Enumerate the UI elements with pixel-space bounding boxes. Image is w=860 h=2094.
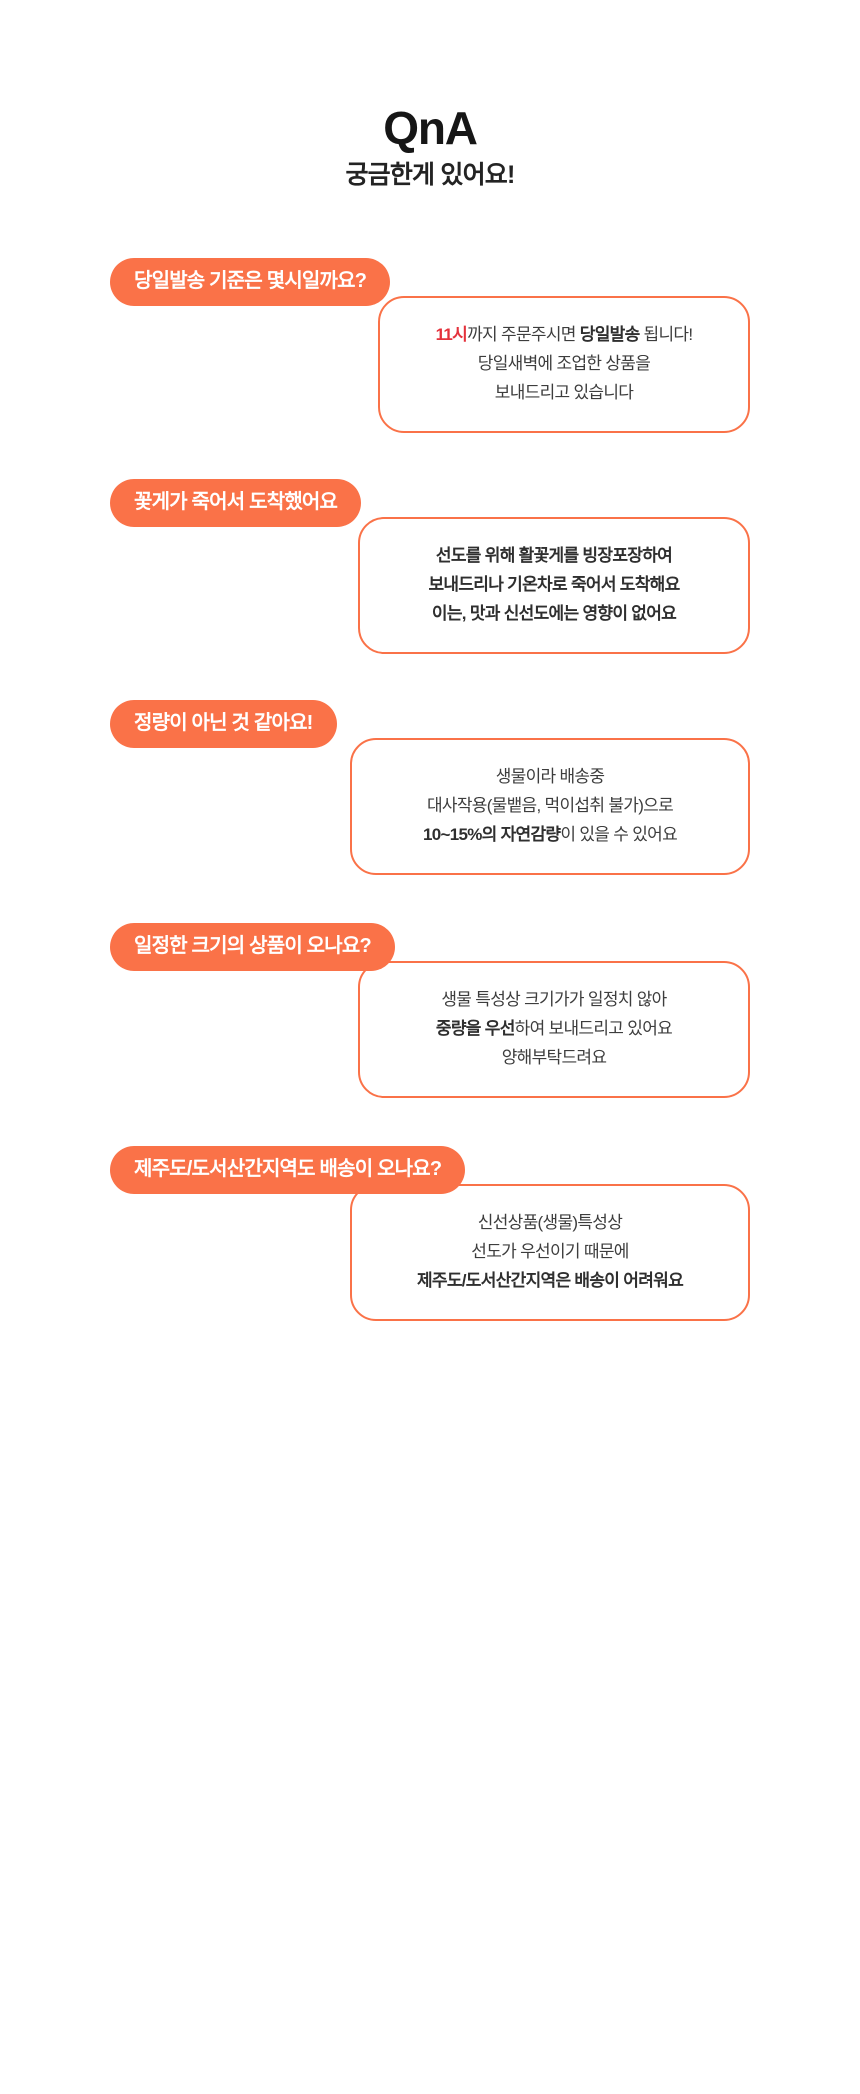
qa-answer-bubble: 11시까지 주문주시면 당일발송 됩니다!당일새벽에 조업한 상품을보내드리고 …: [378, 296, 750, 433]
qa-list: 당일발송 기준은 몇시일까요?11시까지 주문주시면 당일발송 됩니다!당일새벽…: [110, 258, 750, 1321]
qa-answer-line: 당일새벽에 조업한 상품을: [404, 349, 724, 378]
qa-answer-line: 대사작용(물뱉음, 먹이섭취 불가)으로: [376, 791, 724, 820]
qa-answer-text: 신선상품(생물)특성상: [478, 1213, 622, 1232]
qa-answer-line: 11시까지 주문주시면 당일발송 됩니다!: [404, 320, 724, 349]
qa-item: 당일발송 기준은 몇시일까요?11시까지 주문주시면 당일발송 됩니다!당일새벽…: [110, 258, 750, 433]
qa-answer-text: 제주도/도서산간지역은 배송이 어려워요: [417, 1271, 683, 1290]
qa-question-pill[interactable]: 정량이 아닌 것 같아요!: [110, 700, 337, 748]
qa-item: 꽃게가 죽어서 도착했어요선도를 위해 활꽃게를 빙장포장하여보내드리나 기온차…: [110, 479, 750, 654]
qa-answer-text: 생물이라 배송중: [496, 767, 605, 786]
qa-answer-text: 11시: [436, 325, 468, 344]
qa-answer-text: 이 있을 수 있어요: [560, 825, 677, 844]
qa-answer-text: 선도가 우선이기 때문에: [471, 1242, 628, 1261]
qa-answer-text: 까지 주문주시면: [467, 325, 580, 344]
qa-answer-line: 제주도/도서산간지역은 배송이 어려워요: [376, 1266, 724, 1295]
qna-page: QnA 궁금한게 있어요! 당일발송 기준은 몇시일까요?11시까지 주문주시면…: [0, 0, 860, 2094]
qa-answer-text: 보내드리나 기온차로 죽어서 도착해요: [428, 575, 679, 594]
qa-answer-line: 생물이라 배송중: [376, 762, 724, 791]
qa-question-pill[interactable]: 당일발송 기준은 몇시일까요?: [110, 258, 390, 306]
qa-answer-text: 이는, 맛과 신선도에는 영향이 없어요: [432, 604, 676, 623]
qa-answer-line: 선도를 위해 활꽃게를 빙장포장하여: [384, 541, 724, 570]
content-column: QnA 궁금한게 있어요! 당일발송 기준은 몇시일까요?11시까지 주문주시면…: [110, 0, 750, 2094]
qa-answer-line: 10~15%의 자연감량이 있을 수 있어요: [376, 820, 724, 849]
qa-answer-bubble: 생물이라 배송중대사작용(물뱉음, 먹이섭취 불가)으로10~15%의 자연감량…: [350, 738, 750, 875]
qa-answer-text: 선도를 위해 활꽃게를 빙장포장하여: [436, 546, 672, 565]
qa-item: 정량이 아닌 것 같아요!생물이라 배송중대사작용(물뱉음, 먹이섭취 불가)으…: [110, 700, 750, 875]
qa-answer-text: 당일새벽에 조업한 상품을: [478, 354, 650, 373]
qa-answer-text: 보내드리고 있습니다: [495, 383, 633, 402]
qa-answer-line: 신선상품(생물)특성상: [376, 1208, 724, 1237]
qa-answer-line: 선도가 우선이기 때문에: [376, 1237, 724, 1266]
qa-answer-text: 양해부탁드려요: [502, 1048, 607, 1067]
qa-question-pill[interactable]: 꽃게가 죽어서 도착했어요: [110, 479, 361, 527]
qa-answer-bubble: 생물 특성상 크기가가 일정치 않아중량을 우선하여 보내드리고 있어요양해부탁…: [358, 961, 750, 1098]
qa-answer-text: 10~15%의 자연감량: [423, 825, 560, 844]
qa-answer-text: 됩니다!: [640, 325, 693, 344]
qa-item: 제주도/도서산간지역도 배송이 오나요?신선상품(생물)특성상선도가 우선이기 …: [110, 1146, 750, 1321]
qa-answer-line: 이는, 맛과 신선도에는 영향이 없어요: [384, 599, 724, 628]
qa-item: 일정한 크기의 상품이 오나요?생물 특성상 크기가가 일정치 않아중량을 우선…: [110, 923, 750, 1098]
page-header: QnA 궁금한게 있어요!: [110, 0, 750, 190]
qa-answer-line: 양해부탁드려요: [384, 1043, 724, 1072]
qa-answer-line: 보내드리나 기온차로 죽어서 도착해요: [384, 570, 724, 599]
qa-question-pill[interactable]: 제주도/도서산간지역도 배송이 오나요?: [110, 1146, 465, 1194]
qa-answer-text: 중량을 우선: [436, 1019, 515, 1038]
qa-answer-bubble: 신선상품(생물)특성상선도가 우선이기 때문에제주도/도서산간지역은 배송이 어…: [350, 1184, 750, 1321]
qa-answer-bubble: 선도를 위해 활꽃게를 빙장포장하여보내드리나 기온차로 죽어서 도착해요이는,…: [358, 517, 750, 654]
qa-answer-text: 대사작용(물뱉음, 먹이섭취 불가)으로: [427, 796, 673, 815]
page-title: QnA: [110, 104, 750, 152]
qa-answer-text: 당일발송: [580, 325, 640, 344]
qa-answer-line: 생물 특성상 크기가가 일정치 않아: [384, 985, 724, 1014]
qa-answer-text: 하여 보내드리고 있어요: [515, 1019, 672, 1038]
qa-answer-line: 보내드리고 있습니다: [404, 378, 724, 407]
qa-question-pill[interactable]: 일정한 크기의 상품이 오나요?: [110, 923, 395, 971]
qa-answer-text: 생물 특성상 크기가가 일정치 않아: [441, 990, 666, 1009]
qa-answer-line: 중량을 우선하여 보내드리고 있어요: [384, 1014, 724, 1043]
page-subtitle: 궁금한게 있어요!: [110, 160, 750, 190]
